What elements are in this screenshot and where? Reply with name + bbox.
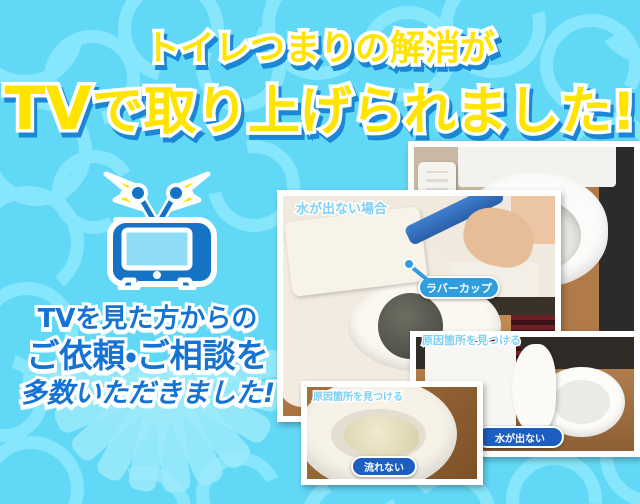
subcopy-line-2: ご依頼・ご相談を xyxy=(0,338,295,375)
headline-line-2: TVで取り上げられました! xyxy=(0,67,640,139)
label-rubber-cup-pointer xyxy=(404,258,438,288)
subcopy-block: TVを見た方からの ご依頼・ご相談を 多数いただきました! xyxy=(0,305,295,409)
headline-block: トイレつまりの解消が TVで取り上げられました! xyxy=(0,0,640,139)
label-not-flowing: 流れない xyxy=(351,456,417,477)
subcopy-line-3: 多数いただきました! xyxy=(0,379,295,409)
headline-line-1: トイレつまりの解消が xyxy=(0,0,640,67)
headline-tv-word: TV xyxy=(4,74,91,144)
tv-feature-banner: トイレつまりの解消が TVで取り上げられました! xyxy=(0,0,640,504)
subcopy-line-1: TVを見た方からの xyxy=(0,305,295,334)
label-no-water-case: 水が出ない場合 xyxy=(296,198,387,217)
clog-matter xyxy=(344,416,419,456)
label-find-cause-right: 原因箇所を見つける xyxy=(422,332,521,348)
label-no-water: 水が出ない xyxy=(476,426,564,448)
tv-icon xyxy=(92,168,222,290)
headline-line-2-rest: で取り上げられました! xyxy=(92,82,636,142)
label-find-cause-left: 原因箇所を見つける xyxy=(313,388,403,403)
